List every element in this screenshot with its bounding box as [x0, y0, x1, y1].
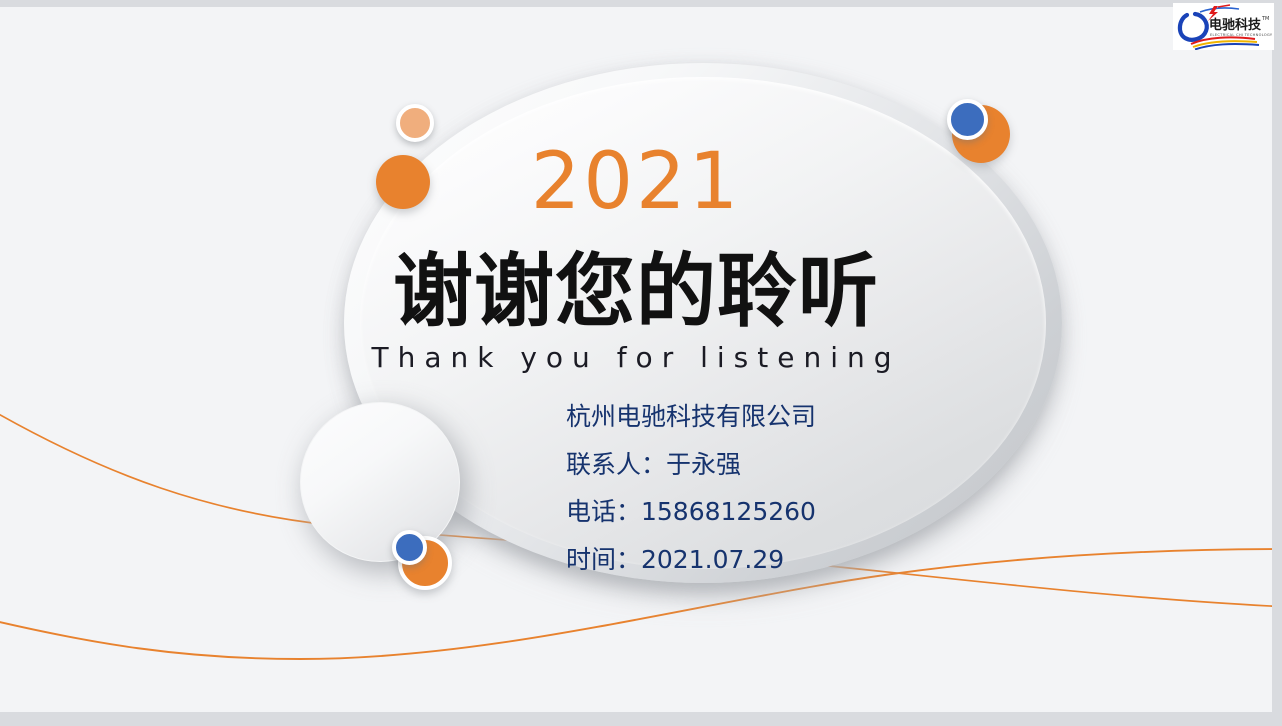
presentation-slide: 2021 谢谢您的聆听 Thank you for listening 杭州电驰…	[0, 7, 1272, 712]
contact-block: 杭州电驰科技有限公司 联系人：于永强 电话：15868125260 时间：202…	[566, 393, 1126, 583]
year-label: 2021	[0, 140, 1272, 224]
contact-date: 时间：2021.07.29	[566, 536, 1126, 584]
subheadline-english: Thank you for listening	[0, 339, 1272, 377]
headline-thank-you: 谢谢您的聆听	[0, 247, 1272, 337]
logo-trademark: TM	[1261, 16, 1269, 22]
contact-phone: 电话：15868125260	[566, 488, 1126, 536]
logo-chinese-text: 电驰科技	[1209, 17, 1262, 33]
slide-content: 2021 谢谢您的聆听 Thank you for listening 杭州电驰…	[0, 7, 1272, 712]
company-logo: 电驰科技 TM ELECTRICAL CHI TECHNOLOGY	[1173, 3, 1274, 50]
logo-english-text: ELECTRICAL CHI TECHNOLOGY	[1210, 33, 1273, 37]
slide-frame: 2021 谢谢您的聆听 Thank you for listening 杭州电驰…	[0, 0, 1282, 726]
contact-company: 杭州电驰科技有限公司	[566, 393, 1126, 441]
contact-person: 联系人：于永强	[566, 441, 1126, 489]
